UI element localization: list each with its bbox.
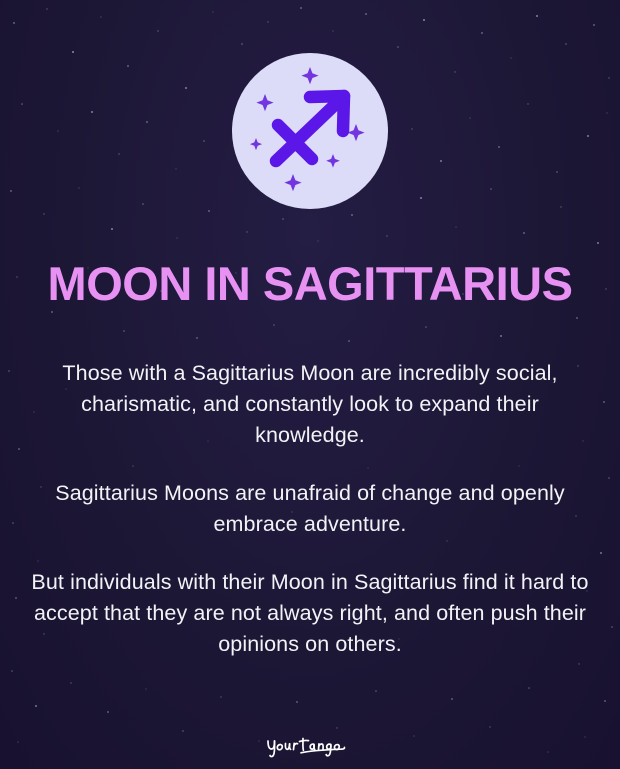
sagittarius-glyph-icon xyxy=(232,53,388,209)
description-paragraph-2: Sagittarius Moons are unafraid of change… xyxy=(26,478,594,540)
description-paragraph-1: Those with a Sagittarius Moon are incred… xyxy=(26,358,594,451)
yourtango-logo: YourTango xyxy=(0,731,620,761)
zodiac-badge-container xyxy=(0,52,620,210)
description-paragraph-3: But individuals with their Moon in Sagit… xyxy=(26,567,594,660)
page-title: MOON IN SAGITTARIUS xyxy=(0,258,620,310)
sagittarius-badge-circle xyxy=(232,53,388,209)
description-block: Those with a Sagittarius Moon are incred… xyxy=(0,358,620,660)
yourtango-wordmark-icon xyxy=(263,731,357,761)
moon-sign-card: MOON IN SAGITTARIUS Those with a Sagitta… xyxy=(0,0,620,769)
